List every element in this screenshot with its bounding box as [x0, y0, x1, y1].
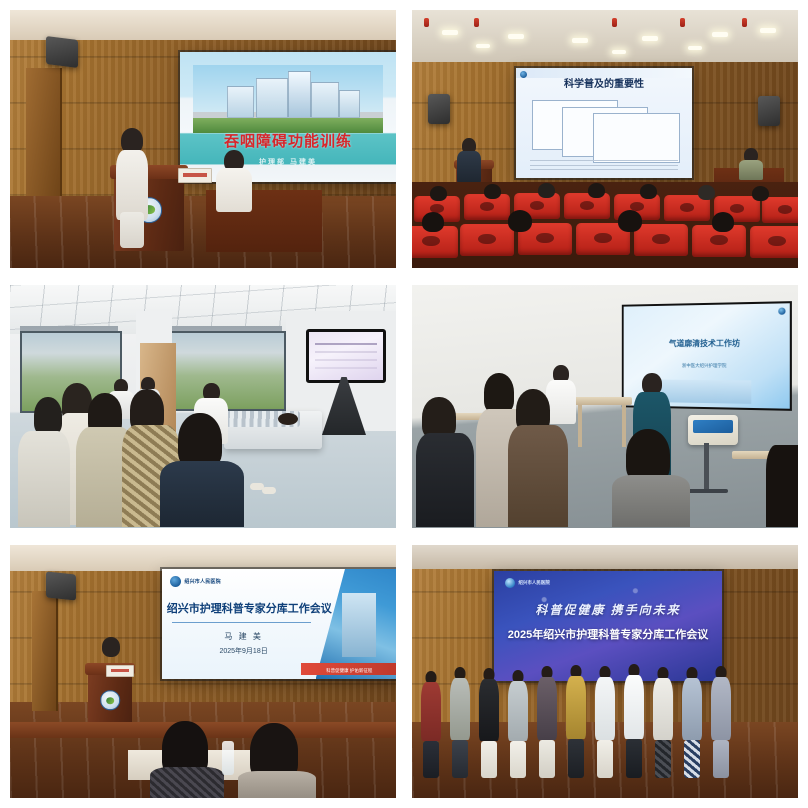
- hospital-logo: 绍兴市人民医院: [170, 576, 220, 587]
- photo5-screen-presenter: 马 建 美: [167, 633, 321, 641]
- loudspeaker-icon: [758, 96, 780, 126]
- photo5-speaker: [96, 637, 126, 695]
- photo3-wall-display: [306, 329, 386, 383]
- photo1-presentation-screen: 吞咽障碍功能训练 护理部 马建美: [180, 52, 396, 182]
- photo5-screen-title: 绍兴市护理科普专家分库工作会议: [167, 604, 330, 615]
- photo6-logo-text: 绍兴市人民医院: [518, 580, 550, 586]
- hospital-logo-icon: [778, 307, 785, 314]
- photo5-presentation-screen: 绍兴市人民医院 绍兴市护理科普专家分库工作会议 马 建 美 2025年9月18日…: [162, 569, 396, 679]
- photo6-calligraphy-text: 科普促健康 携手向未来: [494, 604, 722, 616]
- photo-tile-4[interactable]: 气道廓清技术工作坊 浙中医大绍兴护理学院: [412, 285, 798, 528]
- photo2-moderator: [738, 148, 764, 178]
- photo4-airway-device: [688, 415, 738, 445]
- photo-tile-3[interactable]: [10, 285, 396, 528]
- photo1-speaker: [115, 128, 149, 248]
- photo1-screen-subtitle: 护理部 马建美: [180, 159, 396, 166]
- photo1-nameplate: [178, 168, 212, 183]
- photo4-screen-title: 气道廓清技术工作坊: [624, 339, 790, 348]
- photo1-demonstrator: [216, 150, 252, 208]
- photo2-screen-title: 科学普及的重要性: [516, 80, 692, 90]
- photo6-screen-title: 2025年绍兴市护理科普专家分库工作会议: [494, 630, 722, 641]
- loudspeaker-icon: [46, 36, 78, 68]
- photo2-presentation-screen: 科学普及的重要性: [516, 68, 692, 178]
- loudspeaker-icon: [46, 571, 76, 600]
- photo-tile-6[interactable]: 绍兴市人民医院 科普促健康 携手向未来 2025年绍兴市护理科普专家分库工作会议: [412, 545, 798, 798]
- hospital-logo-icon: [505, 578, 515, 588]
- hospital-logo: 绍兴市人民医院: [505, 578, 550, 588]
- hospital-logo-icon: [520, 71, 527, 78]
- photo-tile-5[interactable]: 绍兴市人民医院 绍兴市护理科普专家分库工作会议 马 建 美 2025年9月18日…: [10, 545, 396, 798]
- photo1-screen-title: 吞咽障碍功能训练: [180, 134, 396, 149]
- photo6-group-row: [424, 661, 787, 777]
- photo-collage: 吞咽障碍功能训练 护理部 马建美: [0, 0, 808, 808]
- photo5-ribbon-text: 科普促健康 护佑新征程: [304, 669, 395, 674]
- photo2-audience-seating: [412, 182, 798, 268]
- photo4-bench: [572, 397, 632, 405]
- hospital-logo-icon: [170, 576, 181, 587]
- photo4-screen-subtitle: 浙中医大绍兴护理学院: [624, 364, 790, 369]
- photo5-screen-date: 2025年9月18日: [167, 648, 321, 655]
- photo5-logo-text: 绍兴市人民医院: [184, 578, 220, 585]
- photo-tile-2[interactable]: 科学普及的重要性: [412, 10, 798, 268]
- photo-tile-1[interactable]: 吞咽障碍功能训练 护理部 马建美: [10, 10, 396, 268]
- photo4-participant: [546, 365, 576, 425]
- loudspeaker-icon: [428, 94, 450, 124]
